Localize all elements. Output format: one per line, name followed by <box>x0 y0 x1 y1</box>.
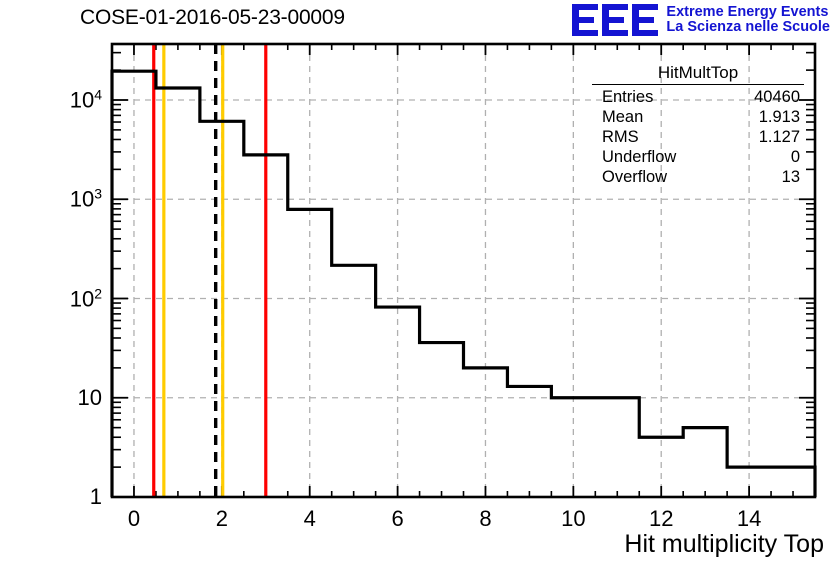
stats-title: HitMultTop <box>592 64 804 85</box>
stats-row: Underflow0 <box>592 145 804 165</box>
x-tick-label: 10 <box>561 506 585 532</box>
x-tick-label: 0 <box>128 506 140 532</box>
stats-key: RMS <box>602 129 639 146</box>
stats-rows: Entries40460Mean1.913RMS1.127Underflow0O… <box>592 85 804 185</box>
x-tick-label: 8 <box>479 506 491 532</box>
stats-row: RMS1.127 <box>592 125 804 145</box>
stats-key: Mean <box>602 109 643 126</box>
y-tick-label: 1 <box>20 484 102 510</box>
plot-root: COSE-01-2016-05-23-00009 Extreme Energy … <box>0 0 836 572</box>
stats-key: Underflow <box>602 149 676 166</box>
stats-key: Overflow <box>602 169 667 186</box>
stats-value: 1.913 <box>759 109 800 126</box>
y-tick-label: 102 <box>20 285 102 312</box>
x-tick-label: 6 <box>391 506 403 532</box>
x-axis-title: Hit multiplicity Top <box>624 530 824 559</box>
stats-value: 13 <box>782 169 800 186</box>
y-tick-label: 104 <box>20 86 102 113</box>
x-tick-label: 2 <box>216 506 228 532</box>
y-tick-label: 103 <box>20 186 102 213</box>
marker-lines <box>154 44 266 497</box>
stats-value: 1.127 <box>759 129 800 146</box>
stats-row: Mean1.913 <box>592 105 804 125</box>
stats-key: Entries <box>602 89 653 106</box>
x-tick-label: 4 <box>304 506 316 532</box>
stats-value: 40460 <box>754 89 800 106</box>
x-tick-label: 12 <box>649 506 673 532</box>
y-tick-label: 10 <box>20 385 102 411</box>
stats-box: HitMultTop Entries40460Mean1.913RMS1.127… <box>592 64 804 185</box>
stats-value: 0 <box>791 149 800 166</box>
x-tick-label: 14 <box>737 506 761 532</box>
stats-row: Entries40460 <box>592 85 804 105</box>
stats-row: Overflow13 <box>592 165 804 185</box>
